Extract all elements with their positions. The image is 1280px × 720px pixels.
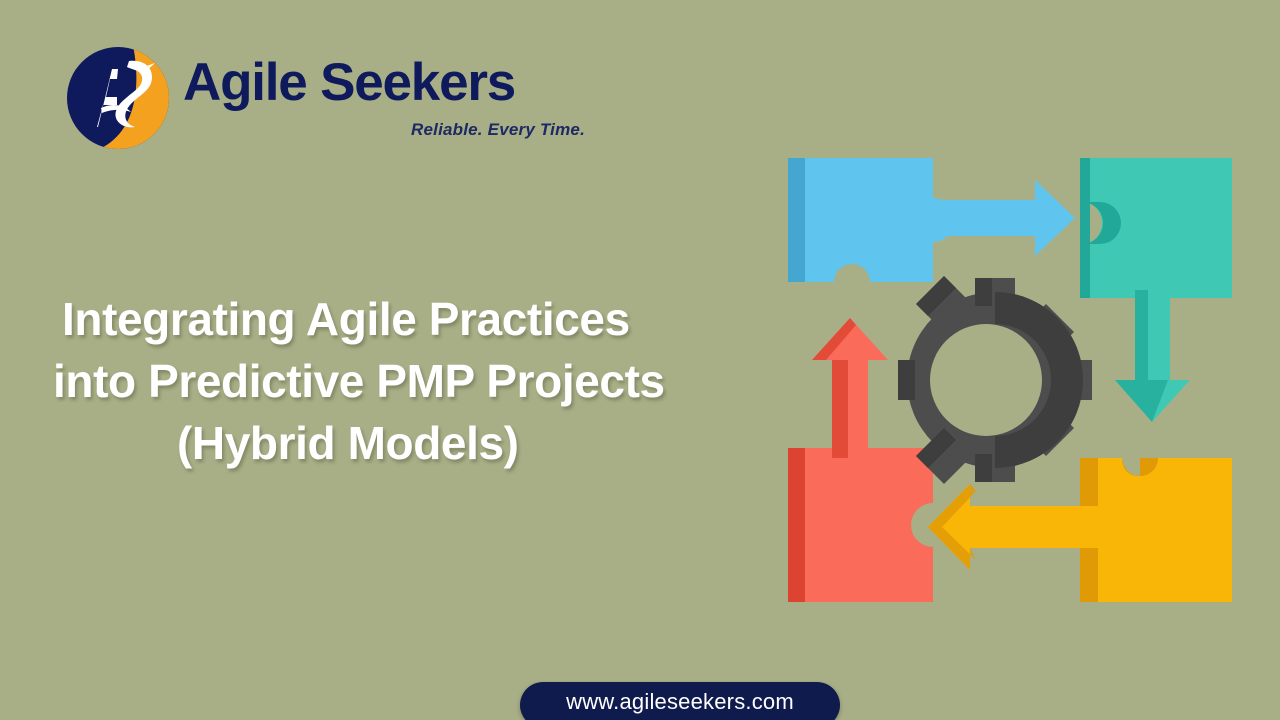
puzzle-piece-teal: [1080, 158, 1232, 422]
logo-block[interactable]: Agile Seekers Reliable. Every Time.: [65, 42, 535, 157]
logo-wordmark: Agile Seekers: [183, 56, 515, 109]
gear-icon: [898, 276, 1092, 484]
logo-tagline: Reliable. Every Time.: [355, 120, 585, 140]
footer-url-text: www.agileseekers.com: [520, 682, 840, 720]
footer-url-pill[interactable]: www.agileseekers.com: [520, 682, 840, 720]
arrow-up-icon: [812, 318, 888, 458]
page-title-line-1: Integrating Agile Practices: [62, 288, 722, 350]
banner-root: Agile Seekers Reliable. Every Time. Inte…: [0, 0, 1280, 720]
arrow-left-icon: [928, 484, 1100, 570]
hybrid-puzzle-cycle-illustration: [770, 140, 1250, 620]
as-swan-monogram-icon: [65, 45, 171, 151]
page-title-line-2: into Predictive PMP Projects: [53, 350, 722, 412]
arrow-right-icon: [916, 180, 1075, 256]
puzzle-piece-yellow: [928, 458, 1232, 602]
page-title: Integrating Agile Practices into Predict…: [62, 288, 722, 474]
page-title-line-3: (Hybrid Models): [177, 412, 722, 474]
puzzle-piece-blue: [788, 158, 1075, 282]
